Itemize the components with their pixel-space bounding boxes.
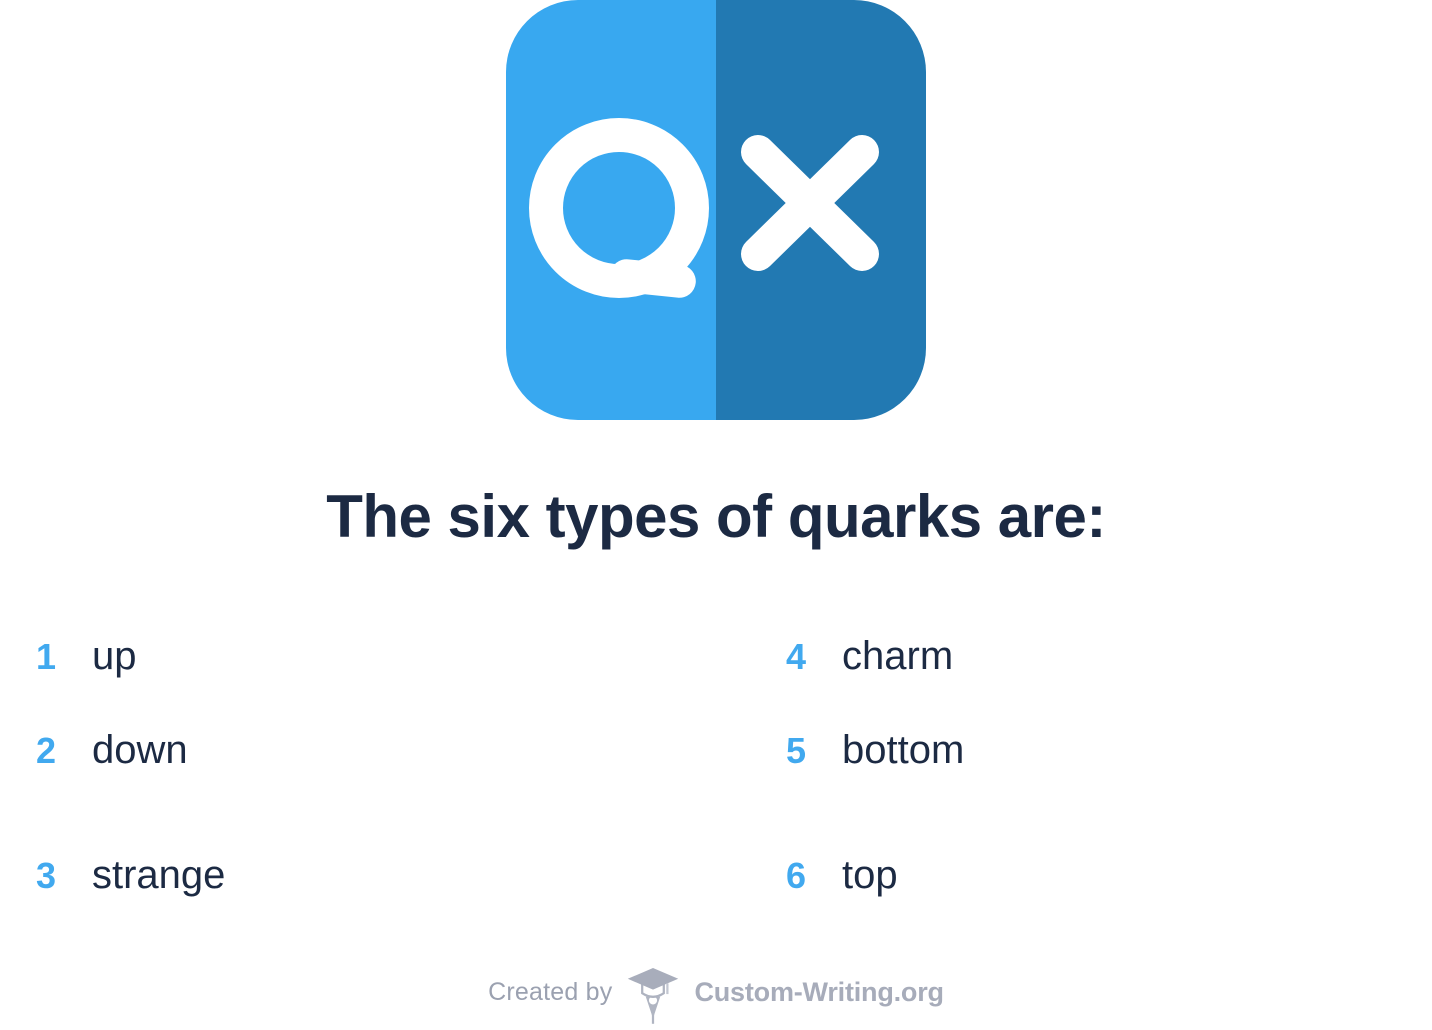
list-item-number: 4 xyxy=(786,636,842,678)
graduation-cap-pen-icon xyxy=(626,966,680,1024)
list-item: 1 up xyxy=(36,634,137,679)
list-item-label: up xyxy=(92,634,137,679)
footer-attribution: Created by Custom-Writing.org xyxy=(0,966,1432,1018)
list-item-number: 1 xyxy=(36,636,92,678)
list-item-label: down xyxy=(92,728,188,773)
list-item: 5 bottom xyxy=(786,728,964,773)
logo-letter-q-icon xyxy=(546,135,697,299)
logo-letter-x-icon xyxy=(758,152,862,254)
list-item-label: charm xyxy=(842,634,953,679)
list-item-label: strange xyxy=(92,853,225,898)
footer-created-by-label: Created by xyxy=(488,978,612,1007)
list-item: 6 top xyxy=(786,853,898,898)
qx-logo xyxy=(506,0,926,420)
list-item-number: 3 xyxy=(36,855,92,897)
list-item-number: 2 xyxy=(36,730,92,772)
list-item-label: top xyxy=(842,853,898,898)
page-title: The six types of quarks are: xyxy=(0,484,1432,550)
list-item-label: bottom xyxy=(842,728,964,773)
poster-page: The six types of quarks are: 1 up 2 down… xyxy=(0,0,1432,1030)
list-item: 2 down xyxy=(36,728,188,773)
list-item: 3 strange xyxy=(36,853,225,898)
list-item-number: 6 xyxy=(786,855,842,897)
quark-list: 1 up 2 down 3 strange 4 charm 5 bottom xyxy=(0,620,1432,930)
footer-brand-label: Custom-Writing.org xyxy=(694,977,943,1008)
logo-glyphs xyxy=(506,0,926,420)
list-item-number: 5 xyxy=(786,730,842,772)
list-item: 4 charm xyxy=(786,634,953,679)
